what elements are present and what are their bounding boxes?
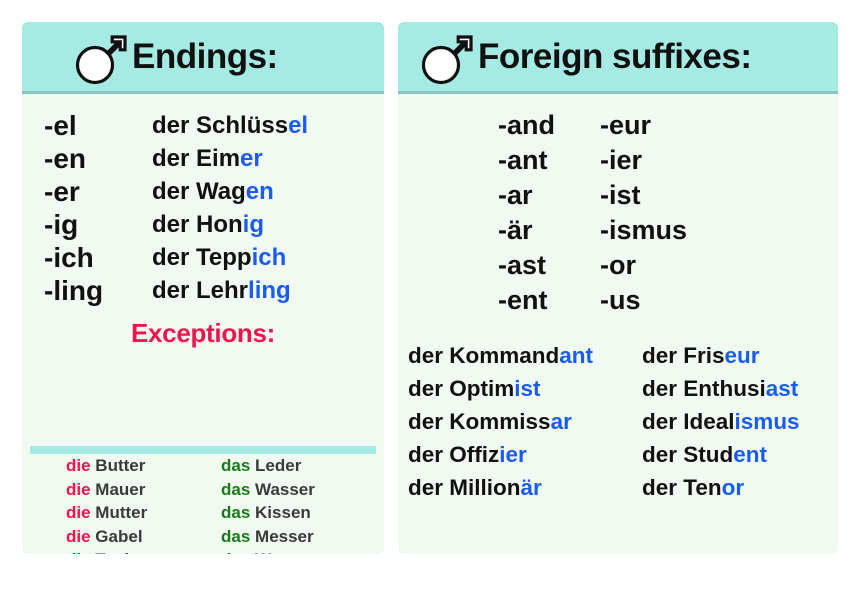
exception-noun: Tochter bbox=[95, 550, 156, 554]
example-base: der Hon bbox=[152, 211, 243, 238]
exception-item: die Butter bbox=[66, 454, 203, 478]
example-item: der Teppich bbox=[152, 242, 384, 274]
ending-item: -en bbox=[44, 143, 150, 175]
example-base: der Fris bbox=[642, 343, 725, 368]
exception-noun: Leder bbox=[255, 456, 301, 475]
example-base: der Tepp bbox=[152, 244, 252, 271]
endings-panel-title: Endings: bbox=[132, 37, 278, 77]
article-die: die bbox=[66, 503, 91, 522]
exceptions-title: Exceptions: bbox=[22, 318, 384, 349]
suffix-item: -ismus bbox=[600, 213, 730, 247]
example-suffix: ast bbox=[766, 376, 799, 401]
foreign-example-item: der Idealismus bbox=[642, 406, 838, 438]
suffix-item: -eur bbox=[600, 108, 730, 142]
example-base: der Kommand bbox=[408, 343, 559, 368]
example-item: der Wagen bbox=[152, 176, 384, 208]
mars-symbol-icon bbox=[74, 28, 128, 86]
exception-item: das Leder bbox=[221, 454, 376, 478]
exception-noun: Mauer bbox=[95, 480, 145, 499]
exception-item: die Mauer bbox=[66, 478, 203, 502]
endings-panel-header: Endings: bbox=[22, 22, 384, 94]
foreign-example-item: der Tenor bbox=[642, 472, 838, 504]
ending-item: -ling bbox=[44, 275, 150, 307]
example-item: der Honig bbox=[152, 209, 384, 241]
foreign-example-item: der Millionär bbox=[408, 472, 642, 504]
exception-noun: Wasser bbox=[255, 480, 315, 499]
example-base: der Schlüss bbox=[152, 112, 288, 139]
ending-item: -ig bbox=[44, 209, 150, 241]
example-suffix: ar bbox=[551, 409, 572, 434]
article-das: das bbox=[221, 456, 250, 475]
exception-noun: Messer bbox=[255, 527, 314, 546]
suffix-item: -ant bbox=[498, 143, 550, 177]
example-suffix: ier bbox=[499, 442, 527, 467]
endings-panel: Endings: -el -en -er -ig -ich -ling der … bbox=[22, 22, 384, 554]
article-das: das bbox=[221, 480, 250, 499]
foreign-suffixes-panel-body: -and -ant -ar -är -ast -ent -eur -ier -i… bbox=[398, 94, 838, 505]
example-base: der Wag bbox=[152, 178, 246, 205]
exceptions-box: die Butter die Mauer die Mutter die Gabe… bbox=[30, 446, 376, 454]
exception-noun: Wetter bbox=[255, 550, 308, 554]
suffix-item: -or bbox=[600, 248, 730, 282]
article-die: die bbox=[66, 456, 91, 475]
article-die: die bbox=[66, 527, 91, 546]
example-base: der Million bbox=[408, 475, 521, 500]
example-suffix: en bbox=[246, 178, 274, 205]
foreign-example-item: der Student bbox=[642, 439, 838, 471]
example-suffix: ent bbox=[733, 442, 767, 467]
example-base: der Ten bbox=[642, 475, 722, 500]
foreign-examples-column-1: der Kommandant der Optimist der Kommissa… bbox=[398, 340, 642, 505]
example-suffix: er bbox=[240, 145, 263, 172]
foreign-suffixes-panel-title: Foreign suffixes: bbox=[478, 37, 751, 77]
example-base: der Lehr bbox=[152, 277, 248, 304]
endings-panel-body: -el -en -er -ig -ich -ling der Schlüssel… bbox=[22, 94, 384, 349]
example-suffix: är bbox=[521, 475, 542, 500]
exception-noun: Kissen bbox=[255, 503, 311, 522]
article-die: die bbox=[66, 550, 91, 554]
exception-item: die Mutter bbox=[66, 501, 203, 525]
article-die: die bbox=[66, 480, 91, 499]
ending-item: -er bbox=[44, 176, 150, 208]
exception-item: das Kissen bbox=[221, 501, 376, 525]
example-suffix: el bbox=[288, 112, 308, 139]
example-suffix: ich bbox=[252, 244, 287, 271]
example-item: der Eimer bbox=[152, 143, 384, 175]
endings-column: -el -en -er -ig -ich -ling bbox=[22, 110, 150, 308]
example-base: der Offiz bbox=[408, 442, 499, 467]
foreign-examples-column-2: der Friseur der Enthusiast der Idealismu… bbox=[642, 340, 838, 505]
exception-item: das Wetter bbox=[221, 548, 376, 554]
suffix-item: -är bbox=[498, 213, 550, 247]
article-das: das bbox=[221, 503, 250, 522]
foreign-suffixes-panel: Foreign suffixes: -and -ant -ar -är -ast… bbox=[398, 22, 838, 554]
ending-item: -el bbox=[44, 110, 150, 142]
example-base: der Optim bbox=[408, 376, 514, 401]
example-suffix: ig bbox=[243, 211, 264, 238]
article-das: das bbox=[221, 527, 250, 546]
example-suffix: ling bbox=[248, 277, 291, 304]
example-item: der Schlüssel bbox=[152, 110, 384, 142]
mars-symbol-icon bbox=[420, 28, 474, 86]
example-suffix: ismus bbox=[735, 409, 800, 434]
example-base: der Ideal bbox=[642, 409, 735, 434]
suffix-item: -ier bbox=[600, 143, 730, 177]
foreign-example-item: der Enthusiast bbox=[642, 373, 838, 405]
foreign-example-item: der Optimist bbox=[408, 373, 642, 405]
foreign-suffix-column-2: -eur -ier -ist -ismus -or -us bbox=[550, 108, 730, 318]
suffix-item: -and bbox=[498, 108, 550, 142]
exception-noun: Mutter bbox=[95, 503, 147, 522]
example-suffix: eur bbox=[725, 343, 760, 368]
foreign-suffixes-panel-header: Foreign suffixes: bbox=[398, 22, 838, 94]
exception-item: das Wasser bbox=[221, 478, 376, 502]
example-suffix: or bbox=[722, 475, 745, 500]
exception-item: das Messer bbox=[221, 525, 376, 549]
endings-lists: -el -en -er -ig -ich -ling der Schlüssel… bbox=[22, 94, 384, 308]
example-suffix: ist bbox=[514, 376, 540, 401]
exception-item: die Gabel bbox=[66, 525, 203, 549]
endings-examples-column: der Schlüssel der Eimer der Wagen der Ho… bbox=[150, 110, 384, 308]
exception-noun: Gabel bbox=[95, 527, 142, 546]
suffix-item: -ar bbox=[498, 178, 550, 212]
foreign-suffix-lists: -and -ant -ar -är -ast -ent -eur -ier -i… bbox=[398, 94, 838, 318]
ending-item: -ich bbox=[44, 242, 150, 274]
example-base: der Kommiss bbox=[408, 409, 551, 434]
foreign-examples: der Kommandant der Optimist der Kommissa… bbox=[398, 318, 838, 505]
suffix-item: -ist bbox=[600, 178, 730, 212]
example-item: der Lehrling bbox=[152, 275, 384, 307]
foreign-suffix-column-1: -and -ant -ar -är -ast -ent bbox=[398, 108, 550, 318]
infographic-board: Endings: -el -en -er -ig -ich -ling der … bbox=[0, 0, 850, 599]
exception-item: die Tochter bbox=[66, 548, 203, 554]
exception-noun: Butter bbox=[95, 456, 145, 475]
article-das: das bbox=[221, 550, 250, 554]
foreign-example-item: der Kommandant bbox=[408, 340, 642, 372]
example-base: der Eim bbox=[152, 145, 240, 172]
example-suffix: ant bbox=[559, 343, 593, 368]
foreign-example-item: der Kommissar bbox=[408, 406, 642, 438]
example-base: der Stud bbox=[642, 442, 733, 467]
foreign-example-item: der Offizier bbox=[408, 439, 642, 471]
foreign-example-item: der Friseur bbox=[642, 340, 838, 372]
suffix-item: -ent bbox=[498, 283, 550, 317]
suffix-item: -us bbox=[600, 283, 730, 317]
suffix-item: -ast bbox=[498, 248, 550, 282]
example-base: der Enthusi bbox=[642, 376, 766, 401]
